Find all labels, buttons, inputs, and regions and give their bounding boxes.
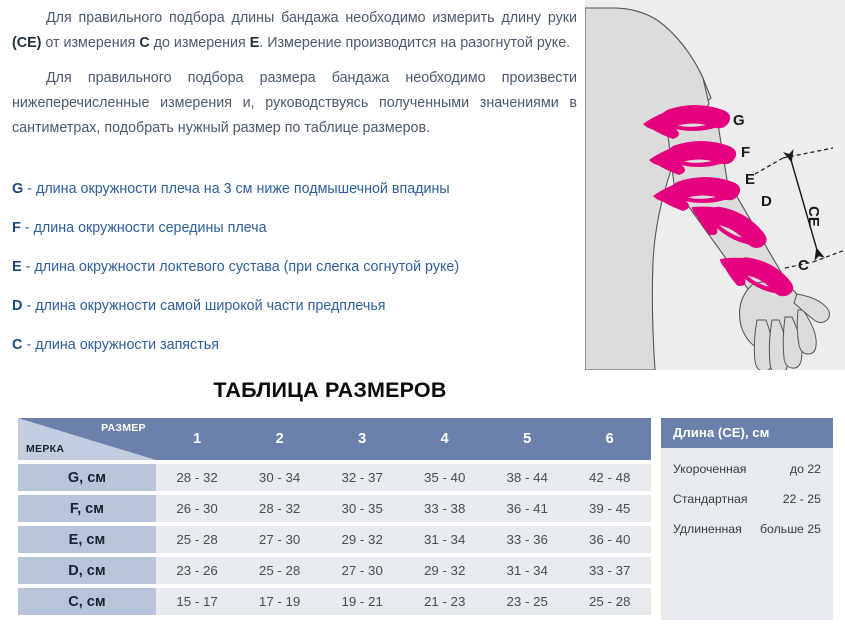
size-header-6: 6 xyxy=(568,418,651,460)
size-header-1: 1 xyxy=(156,418,239,460)
cell-g-4: 35 - 40 xyxy=(403,460,486,491)
cell-g-2: 30 - 34 xyxy=(238,460,321,491)
label-ce: CE xyxy=(805,206,822,227)
label-d: D xyxy=(761,193,772,210)
corner-measure-label: МЕРКА xyxy=(26,443,64,455)
table-row: E, см 25 - 28 27 - 30 29 - 32 31 - 34 33… xyxy=(18,522,651,553)
intro-p1-e: Е xyxy=(250,35,260,51)
cell-c-1: 15 - 17 xyxy=(156,584,239,615)
row-label-d: D, см xyxy=(18,553,156,584)
cell-e-3: 29 - 32 xyxy=(321,522,404,553)
intro-paragraph-2: Для правильного подбора размера бандажа … xyxy=(12,66,577,141)
length-name-standard: Стандартная xyxy=(673,492,748,506)
cell-d-1: 23 - 26 xyxy=(156,553,239,584)
label-c: C xyxy=(798,257,809,274)
size-chart-table: РАЗМЕР МЕРКА 1 2 3 4 5 6 G, см 28 - 32 3… xyxy=(18,418,651,615)
cell-d-6: 33 - 37 xyxy=(568,553,651,584)
legend-item-e: E - длина окружности локтевого сустава (… xyxy=(12,258,572,276)
cell-c-2: 17 - 19 xyxy=(238,584,321,615)
intro-p1-part-4: до измерения xyxy=(150,35,250,51)
size-chart-header-row: РАЗМЕР МЕРКА 1 2 3 4 5 6 xyxy=(18,418,651,460)
cell-g-5: 38 - 44 xyxy=(486,460,569,491)
row-label-e: E, см xyxy=(18,522,156,553)
legend-dash-c: - xyxy=(22,337,35,353)
length-value-extended: больше 25 xyxy=(760,522,821,536)
legend-item-c: C - длина окружности запястья xyxy=(12,336,572,354)
cell-f-3: 30 - 35 xyxy=(321,491,404,522)
length-name-short: Укороченная xyxy=(673,462,746,476)
size-chart-head: РАЗМЕР МЕРКА 1 2 3 4 5 6 xyxy=(18,418,651,460)
length-row-standard: Стандартная 22 - 25 xyxy=(673,492,821,506)
row-label-g: G, см xyxy=(18,460,156,491)
table-row: C, см 15 - 17 17 - 19 19 - 21 21 - 23 23… xyxy=(18,584,651,615)
length-value-short: до 22 xyxy=(790,462,821,476)
legend-dash-f: - xyxy=(21,220,34,236)
label-f: F xyxy=(741,144,750,161)
page-title: ТАБЛИЦА РАЗМЕРОВ xyxy=(0,378,660,403)
size-header-4: 4 xyxy=(403,418,486,460)
cell-f-4: 33 - 38 xyxy=(403,491,486,522)
label-g: G xyxy=(733,112,745,129)
length-table: Длина (СЕ), см Укороченная до 22 Стандар… xyxy=(661,418,833,620)
intro-p1-part-0: Для правильного подбора длины бандажа не… xyxy=(46,10,577,26)
intro-p1-ce: (СЕ) xyxy=(12,35,41,51)
intro-paragraph-1: Для правильного подбора длины бандажа не… xyxy=(12,6,577,56)
row-label-f: F, см xyxy=(18,491,156,522)
cell-e-6: 36 - 40 xyxy=(568,522,651,553)
cell-d-2: 25 - 28 xyxy=(238,553,321,584)
length-name-extended: Удлиненная xyxy=(673,522,742,536)
cell-c-5: 23 - 25 xyxy=(486,584,569,615)
length-table-body: Укороченная до 22 Стандартная 22 - 25 Уд… xyxy=(661,448,833,620)
size-header-2: 2 xyxy=(238,418,321,460)
legend-desc-g: длина окружности плеча на 3 см ниже подм… xyxy=(36,181,450,197)
cell-d-4: 29 - 32 xyxy=(403,553,486,584)
legend-key-c: C xyxy=(12,337,22,353)
intro-p1-c: С xyxy=(139,35,149,51)
intro-text-block: Для правильного подбора длины бандажа не… xyxy=(12,6,577,151)
cell-e-1: 25 - 28 xyxy=(156,522,239,553)
length-value-standard: 22 - 25 xyxy=(783,492,821,506)
length-table-header: Длина (СЕ), см xyxy=(661,418,833,448)
arm-measurement-illustration: G F E D C CE xyxy=(585,0,845,370)
length-row-short: Укороченная до 22 xyxy=(673,462,821,476)
length-row-extended: Удлиненная больше 25 xyxy=(673,522,821,536)
size-chart-body: G, см 28 - 32 30 - 34 32 - 37 35 - 40 38… xyxy=(18,460,651,615)
cell-f-2: 28 - 32 xyxy=(238,491,321,522)
cell-e-2: 27 - 30 xyxy=(238,522,321,553)
table-row: D, см 23 - 26 25 - 28 27 - 30 29 - 32 31… xyxy=(18,553,651,584)
intro-p1-part-6: . Измерение производится на разогнутой р… xyxy=(259,35,570,51)
cell-c-4: 21 - 23 xyxy=(403,584,486,615)
label-e: E xyxy=(745,171,755,188)
cell-g-6: 42 - 48 xyxy=(568,460,651,491)
legend-dash-g: - xyxy=(23,181,36,197)
cell-c-3: 19 - 21 xyxy=(321,584,404,615)
legend-key-f: F xyxy=(12,220,21,236)
legend-desc-e: длина окружности локтевого сустава (при … xyxy=(34,259,459,275)
cell-e-4: 31 - 34 xyxy=(403,522,486,553)
legend-desc-d: длина окружности самой широкой части пре… xyxy=(35,298,385,314)
legend-key-d: D xyxy=(12,298,22,314)
legend-dash-e: - xyxy=(22,259,35,275)
row-label-c: C, см xyxy=(18,584,156,615)
legend-dash-d: - xyxy=(22,298,35,314)
legend-item-g: G - длина окружности плеча на 3 см ниже … xyxy=(12,180,572,198)
cell-g-1: 28 - 32 xyxy=(156,460,239,491)
cell-e-5: 33 - 36 xyxy=(486,522,569,553)
cell-f-6: 39 - 45 xyxy=(568,491,651,522)
cell-g-3: 32 - 37 xyxy=(321,460,404,491)
legend-key-e: E xyxy=(12,259,22,275)
legend-desc-c: длина окружности запястья xyxy=(35,337,219,353)
legend-key-g: G xyxy=(12,181,23,197)
legend-item-d: D - длина окружности самой широкой части… xyxy=(12,297,572,315)
corner-cell: РАЗМЕР МЕРКА xyxy=(18,418,156,460)
size-header-3: 3 xyxy=(321,418,404,460)
intro-p1-part-2: от измерения xyxy=(41,35,139,51)
cell-c-6: 25 - 28 xyxy=(568,584,651,615)
table-row: G, см 28 - 32 30 - 34 32 - 37 35 - 40 38… xyxy=(18,460,651,491)
corner-size-label: РАЗМЕР xyxy=(101,422,146,434)
measurement-legend: G - длина окружности плеча на 3 см ниже … xyxy=(12,180,572,375)
size-header-5: 5 xyxy=(486,418,569,460)
cell-d-3: 27 - 30 xyxy=(321,553,404,584)
cell-d-5: 31 - 34 xyxy=(486,553,569,584)
cell-f-5: 36 - 41 xyxy=(486,491,569,522)
cell-f-1: 26 - 30 xyxy=(156,491,239,522)
legend-desc-f: длина окружности середины плеча xyxy=(34,220,267,236)
legend-item-f: F - длина окружности середины плеча xyxy=(12,219,572,237)
table-row: F, см 26 - 30 28 - 32 30 - 35 33 - 38 36… xyxy=(18,491,651,522)
